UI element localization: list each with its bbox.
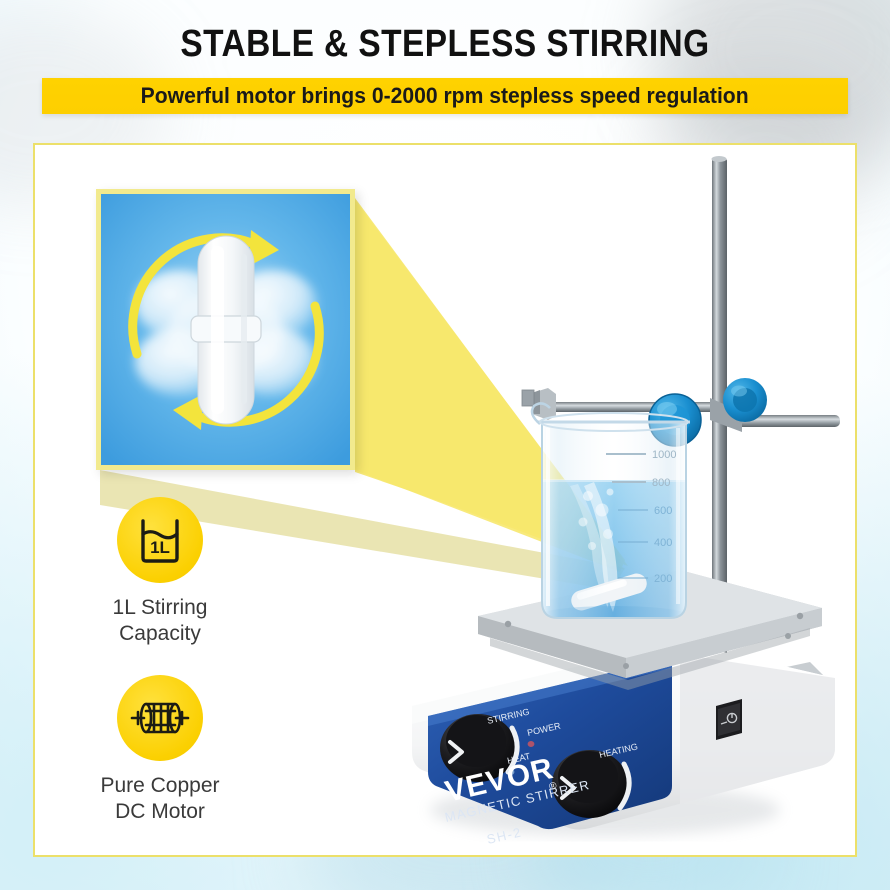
beaker-icon-label: 1L	[150, 538, 170, 557]
dc-motor-icon	[130, 695, 190, 741]
graduation-label: 1000	[652, 449, 676, 461]
clamp-knob-rear	[723, 378, 767, 422]
feature-stirring-capacity: 1L 1L Stirring Capacity	[60, 497, 260, 647]
graduation-label: 600	[654, 505, 672, 517]
beaker: 1000 800 600 400 200	[532, 403, 692, 626]
feature-badge: 1L	[117, 497, 203, 583]
magnified-stir-bar-inset	[96, 189, 355, 470]
feature-dc-motor: Pure Copper DC Motor	[60, 675, 260, 825]
graduation-label: 200	[654, 573, 672, 585]
graduation-label: 800	[652, 477, 670, 489]
rocker-power-switch	[716, 699, 742, 740]
feature-label-line1: Pure Copper	[60, 773, 260, 799]
graduation-label: 400	[654, 537, 672, 549]
feature-label: 1L Stirring Capacity	[60, 595, 260, 647]
feature-badge	[117, 675, 203, 761]
page-title: STABLE & STEPLESS STIRRING	[53, 22, 836, 66]
beaker-1l-icon: 1L	[132, 512, 188, 568]
feature-label-line2: Capacity	[60, 621, 260, 647]
marketing-image-root: STABLE & STEPLESS STIRRING Powerful moto…	[0, 0, 890, 890]
stir-bar-illustration	[101, 194, 350, 465]
feature-label-line2: DC Motor	[60, 799, 260, 825]
product-photo: STIRRING HEATING POWER HEAT	[380, 150, 850, 850]
subtitle-banner: Powerful motor brings 0-2000 rpm steples…	[42, 78, 848, 114]
feature-label: Pure Copper DC Motor	[60, 773, 260, 825]
subtitle-text: Powerful motor brings 0-2000 rpm steples…	[141, 83, 749, 109]
feature-label-line1: 1L Stirring	[60, 595, 260, 621]
